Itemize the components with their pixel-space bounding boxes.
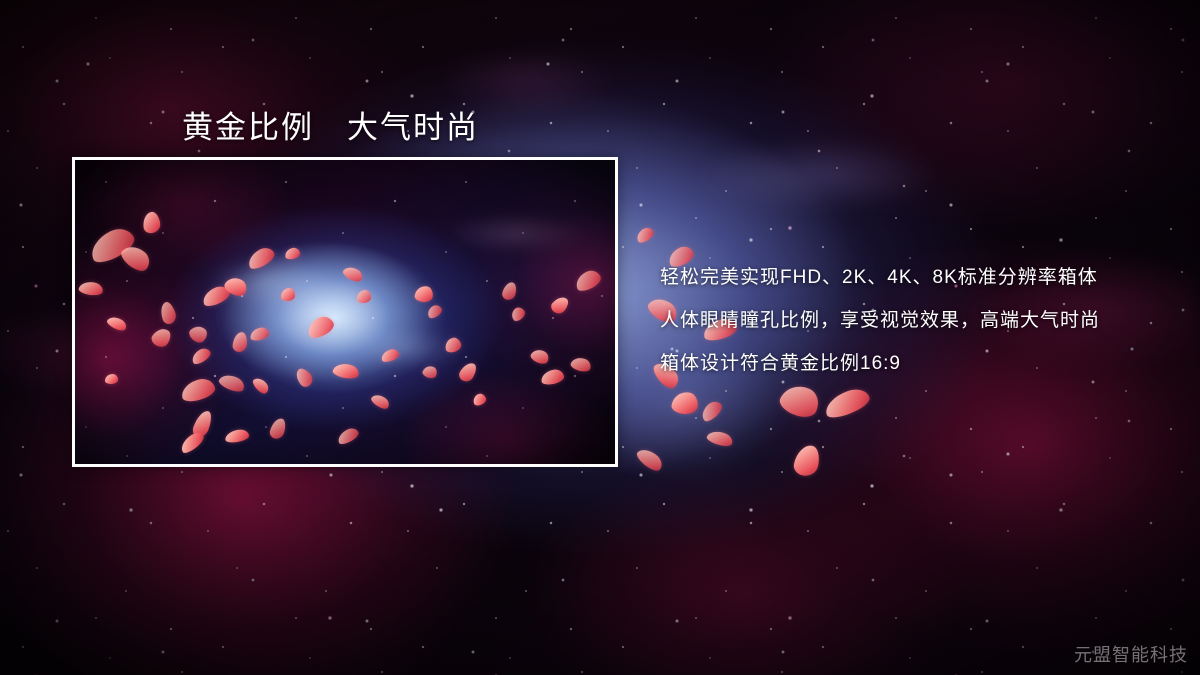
framed-image: [75, 160, 615, 464]
body-line-2: 人体眼睛瞳孔比例，享受视觉效果，高端大气时尚: [660, 299, 1190, 342]
framed-vignette: [75, 160, 615, 464]
body-line-3: 箱体设计符合黄金比例16:9: [660, 342, 1190, 385]
petal-icon: [357, 290, 371, 303]
page-title: 黄金比例 大气时尚: [182, 102, 479, 147]
body-text-block: 轻松完美实现FHD、2K、4K、8K标准分辨率箱体 人体眼睛瞳孔比例，享受视觉效…: [660, 256, 1190, 385]
petal-icon: [281, 288, 295, 301]
body-line-1: 轻松完美实现FHD、2K、4K、8K标准分辨率箱体: [660, 256, 1190, 299]
petal-icon: [105, 374, 118, 384]
watermark: 元盟智能科技: [1074, 641, 1188, 667]
slide-canvas: 黄金比例 大气时尚 轻松完美实现FHD、2K、4K、8K标准分辨率箱体 人体眼睛…: [0, 0, 1200, 675]
picture-frame: [72, 157, 618, 467]
